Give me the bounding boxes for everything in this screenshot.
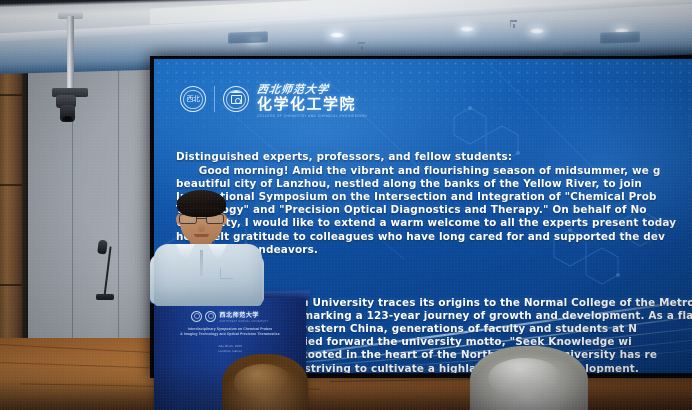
podium-logo-row: 西北师范大学 NORTHWEST NORMAL UNIVERSITY — [166, 310, 294, 323]
microphone-icon — [97, 240, 108, 255]
door-edge — [22, 34, 28, 384]
podium-event-location: Lanzhou, Gansu — [166, 349, 294, 354]
polo-shirt-torso — [154, 244, 262, 306]
college-seal-icon — [223, 86, 249, 112]
podium-college-seal-icon — [205, 311, 216, 322]
presentation-photo-scene: 西北 西北师范大学 化学化工学院 COLLEGE OF CHEMISTRY AN… — [0, 0, 692, 410]
microphone-base — [96, 294, 114, 300]
sprinkler-icon — [510, 20, 517, 27]
shirt-placket — [200, 250, 203, 276]
wall-seam — [118, 40, 119, 370]
downlight-icon — [460, 26, 474, 32]
university-seal-icon: 西北 — [180, 86, 206, 112]
sprinkler-icon — [358, 42, 365, 49]
downlight-icon — [330, 32, 344, 38]
podium-event-date: July 20-21, 2025 — [166, 344, 294, 349]
mouth — [194, 234, 209, 237]
camera-pole — [67, 16, 74, 92]
downlight-icon — [530, 28, 544, 34]
logo-divider — [214, 86, 215, 112]
camera-lens-icon — [60, 105, 75, 122]
audience-head-brown-hair — [222, 354, 308, 410]
screen-branding-row: 西北 西北师范大学 化学化工学院 COLLEGE OF CHEMISTRY AN… — [180, 81, 367, 118]
college-name-en: COLLEGE OF CHEMISTRY AND CHEMICAL ENGINE… — [257, 114, 367, 118]
wooden-door-panel — [0, 34, 22, 384]
podium-event-title-line2: & Imaging Technology and Optical Precisi… — [166, 332, 294, 337]
podium-sign: 西北师范大学 NORTHWEST NORMAL UNIVERSITY Inter… — [166, 310, 294, 354]
podium-university-name-en: NORTHWEST NORMAL UNIVERSITY — [219, 320, 268, 323]
nose — [198, 223, 205, 232]
podium-university-seal-icon — [191, 311, 202, 322]
air-vent — [228, 31, 268, 43]
podium-university-name-cn: 西北师范大学 — [219, 310, 268, 319]
audience-head-white-hair — [470, 346, 588, 410]
air-vent — [600, 31, 640, 43]
shirt-pocket — [220, 268, 233, 279]
college-name-cn: 化学化工学院 — [257, 97, 367, 113]
hair — [177, 190, 226, 217]
speaker-person — [150, 188, 266, 306]
screen-branding-text: 西北师范大学 化学化工学院 COLLEGE OF CHEMISTRY AND C… — [257, 81, 367, 118]
university-name-cn: 西北师范大学 — [256, 81, 369, 97]
